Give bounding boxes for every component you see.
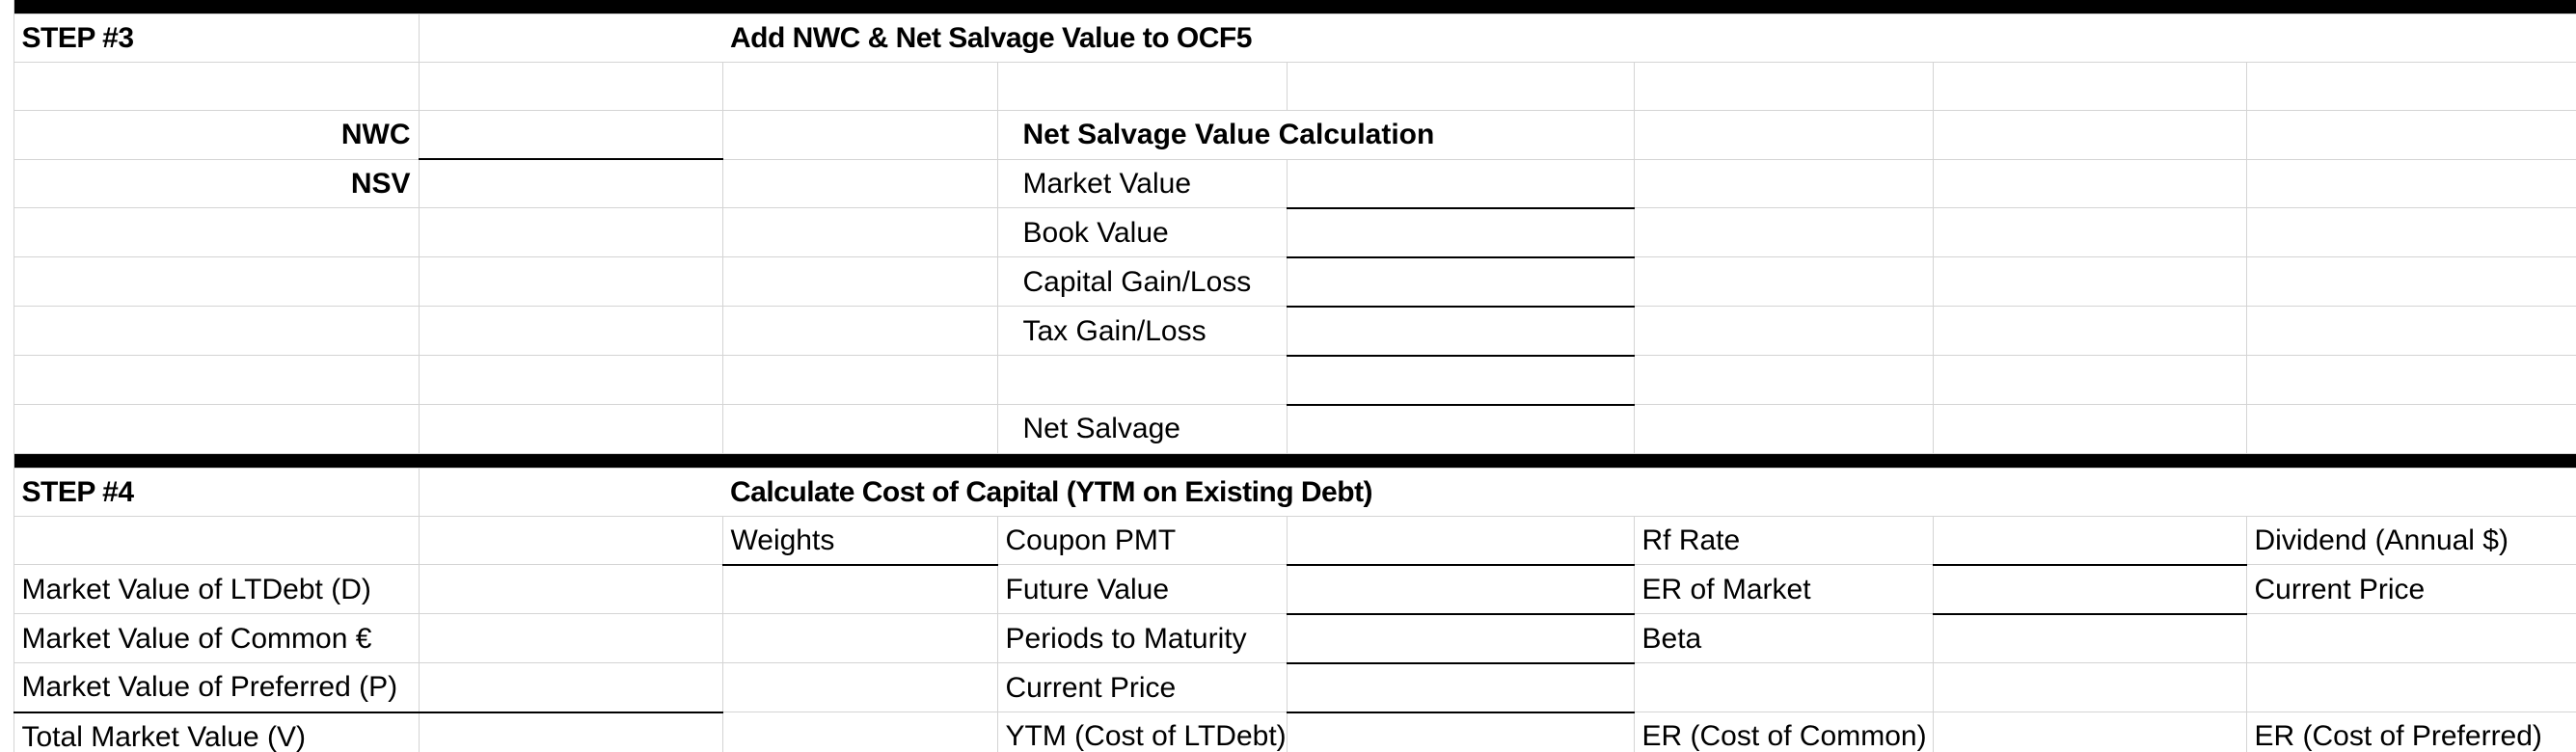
step3-heading: Add NWC & Net Salvage Value to OCF5	[722, 14, 2576, 63]
book-value-row: Book Value	[0, 208, 2576, 257]
preferred-weight[interactable]	[722, 663, 997, 712]
row-gutter	[0, 405, 14, 454]
preferred-label: Market Value of Preferred (P)	[14, 663, 419, 712]
cell-blank[interactable]	[2246, 63, 2576, 111]
net-salvage-label: Net Salvage	[997, 405, 1287, 454]
row-gutter	[0, 111, 14, 160]
tax-gain-loss-label: Tax Gain/Loss	[997, 307, 1287, 356]
cell-blank[interactable]	[2246, 159, 2576, 208]
row-gutter	[0, 356, 14, 405]
cell-blank[interactable]	[722, 307, 997, 356]
row-gutter	[0, 208, 14, 257]
divider-bar	[14, 0, 2576, 14]
common-blank-label[interactable]	[1634, 663, 1933, 712]
nwc-input[interactable]	[419, 111, 722, 160]
cell-blank[interactable]	[2246, 111, 2576, 160]
ltdebt-value[interactable]	[419, 565, 722, 614]
cell-blank[interactable]	[997, 63, 1287, 111]
cell-blank[interactable]	[14, 356, 419, 405]
ltdebt-label: Market Value of LTDebt (D)	[14, 565, 419, 614]
cell-blank[interactable]	[2246, 356, 2576, 405]
ytm-label: YTM (Cost of LTDebt)	[997, 712, 1287, 752]
capital-gain-loss-row: Capital Gain/Loss	[0, 257, 2576, 307]
cell-blank[interactable]	[419, 516, 722, 565]
cell-blank[interactable]	[14, 257, 419, 307]
coupon-pmt-input[interactable]	[1287, 516, 1634, 565]
er-preferred-label: ER (Cost of Preferred)	[2246, 712, 2576, 752]
cell-blank[interactable]	[1933, 159, 2246, 208]
cell-blank[interactable]	[722, 405, 997, 454]
periods-to-maturity-label: Periods to Maturity	[997, 614, 1287, 663]
cell-blank[interactable]	[1634, 63, 1933, 111]
ytm-input[interactable]	[1287, 712, 1634, 752]
ltdebt-weight[interactable]	[722, 565, 997, 614]
cell-blank[interactable]	[419, 356, 722, 405]
row-gutter	[0, 565, 14, 614]
nwc-label: NWC	[14, 111, 419, 160]
row-gutter	[0, 159, 14, 208]
cell-blank[interactable]	[2246, 307, 2576, 356]
cell-blank[interactable]	[722, 111, 997, 160]
cell-blank[interactable]	[1634, 159, 1933, 208]
cell-blank[interactable]	[1634, 356, 1933, 405]
cell-blank[interactable]	[1933, 307, 2246, 356]
cell-blank[interactable]	[2246, 257, 2576, 307]
cell-blank[interactable]	[1287, 63, 1634, 111]
totals-row: Total Market Value (V) YTM (Cost of LTDe…	[0, 712, 2576, 752]
cell-blank[interactable]	[1933, 257, 2246, 307]
preferred-blank-label-2[interactable]	[2246, 663, 2576, 712]
er-of-market-label: ER of Market	[1634, 565, 1933, 614]
nwc-row: NWC Net Salvage Value Calculation	[0, 111, 2576, 160]
cell-blank[interactable]	[1933, 356, 2246, 405]
cell-blank[interactable]	[14, 63, 419, 111]
cell-blank[interactable]	[1933, 405, 2246, 454]
total-market-value-value[interactable]	[419, 712, 722, 752]
cell-blank[interactable]	[419, 208, 722, 257]
row-gutter	[0, 453, 14, 468]
row-gutter	[0, 516, 14, 565]
cell-blank[interactable]	[1933, 208, 2246, 257]
row-gutter	[0, 14, 14, 63]
section-divider-middle	[0, 453, 2576, 468]
cell-blank[interactable]	[419, 405, 722, 454]
step4-header-row: STEP #4 Calculate Cost of Capital (YTM o…	[0, 468, 2576, 516]
cell-blank[interactable]	[1634, 257, 1933, 307]
cell-blank[interactable]	[722, 257, 997, 307]
nsv-label: NSV	[14, 159, 419, 208]
step3-blank-row-1	[0, 63, 2576, 111]
debt-current-price-input[interactable]	[1287, 663, 1634, 712]
cell-blank[interactable]	[1634, 111, 1933, 160]
step3-header-spacer	[419, 14, 722, 63]
ltdebt-row: Market Value of LTDebt (D) Future Value …	[0, 565, 2576, 614]
preferred-equity-row: Market Value of Preferred (P) Current Pr…	[0, 663, 2576, 712]
beta-label: Beta	[1634, 614, 1933, 663]
row-gutter	[0, 663, 14, 712]
worksheet-grid: STEP #3 Add NWC & Net Salvage Value to O…	[0, 0, 2576, 752]
cell-blank[interactable]	[2246, 208, 2576, 257]
cell-blank[interactable]	[419, 257, 722, 307]
rf-rate-input[interactable]	[1933, 516, 2246, 565]
common-weight[interactable]	[722, 614, 997, 663]
er-common-label: ER (Cost of Common)	[1634, 712, 1933, 752]
cell-blank[interactable]	[2246, 405, 2576, 454]
row-gutter	[0, 0, 14, 14]
preferred-blank-label[interactable]	[2246, 614, 2576, 663]
coupon-pmt-label: Coupon PMT	[997, 516, 1287, 565]
nsv-row: NSV Market Value	[0, 159, 2576, 208]
cell-blank[interactable]	[1933, 111, 2246, 160]
beta-input[interactable]	[1933, 614, 2246, 663]
step4-heading: Calculate Cost of Capital (YTM on Existi…	[722, 468, 2576, 516]
market-value-label: Market Value	[997, 159, 1287, 208]
cell-blank[interactable]	[14, 516, 419, 565]
cell-blank[interactable]	[722, 356, 997, 405]
capital-gain-loss-input[interactable]	[1287, 257, 1634, 307]
net-salvage-input[interactable]	[1287, 405, 1634, 454]
cell-blank[interactable]	[722, 63, 997, 111]
cell-blank[interactable]	[1634, 208, 1933, 257]
step4-label: STEP #4	[14, 468, 419, 516]
common-equity-row: Market Value of Common € Periods to Matu…	[0, 614, 2576, 663]
debt-current-price-label: Current Price	[997, 663, 1287, 712]
section-divider-top	[0, 0, 2576, 14]
future-value-input[interactable]	[1287, 565, 1634, 614]
dividend-label: Dividend (Annual $)	[2246, 516, 2576, 565]
divider-bar	[14, 453, 2576, 468]
cell-blank[interactable]	[1933, 63, 2246, 111]
nsv-spacer-input[interactable]	[1287, 356, 1634, 405]
step3-label: STEP #3	[14, 14, 419, 63]
common-blank-input[interactable]	[1933, 663, 2246, 712]
row-gutter	[0, 712, 14, 752]
rf-rate-label: Rf Rate	[1634, 516, 1933, 565]
tax-gain-loss-row: Tax Gain/Loss	[0, 307, 2576, 356]
step4-header-spacer	[419, 468, 722, 516]
cell-blank[interactable]	[722, 208, 997, 257]
tax-gain-loss-input[interactable]	[1287, 307, 1634, 356]
row-gutter	[0, 468, 14, 516]
periods-to-maturity-input[interactable]	[1287, 614, 1634, 663]
capital-gain-loss-label: Capital Gain/Loss	[997, 257, 1287, 307]
spreadsheet-canvas: STEP #3 Add NWC & Net Salvage Value to O…	[0, 0, 2576, 752]
net-salvage-row: Net Salvage	[0, 405, 2576, 454]
cell-blank[interactable]	[14, 208, 419, 257]
book-value-label: Book Value	[997, 208, 1287, 257]
nsv-spacer-row	[0, 356, 2576, 405]
cell-blank[interactable]	[14, 307, 419, 356]
cell-blank[interactable]	[419, 63, 722, 111]
nsv-spacer-label	[997, 356, 1287, 405]
cell-blank[interactable]	[14, 405, 419, 454]
nsv-input[interactable]	[419, 159, 722, 208]
row-gutter	[0, 307, 14, 356]
total-market-value-label: Total Market Value (V)	[14, 712, 419, 752]
future-value-label: Future Value	[997, 565, 1287, 614]
er-common-input[interactable]	[1933, 712, 2246, 752]
preferred-value[interactable]	[419, 663, 722, 712]
cell-blank[interactable]	[1634, 307, 1933, 356]
step3-header-row: STEP #3 Add NWC & Net Salvage Value to O…	[0, 14, 2576, 63]
cell-blank[interactable]	[419, 307, 722, 356]
total-market-value-weight[interactable]	[722, 712, 997, 752]
preferred-current-price-label: Current Price	[2246, 565, 2576, 614]
common-label: Market Value of Common €	[14, 614, 419, 663]
weights-header: Weights	[722, 516, 997, 565]
cell-blank[interactable]	[1634, 405, 1933, 454]
book-value-input[interactable]	[1287, 208, 1634, 257]
er-of-market-input[interactable]	[1933, 565, 2246, 614]
row-gutter	[0, 257, 14, 307]
market-value-input[interactable]	[1287, 159, 1634, 208]
row-gutter	[0, 614, 14, 663]
row-gutter	[0, 63, 14, 111]
step4-subheader-row: Weights Coupon PMT Rf Rate Dividend (Ann…	[0, 516, 2576, 565]
common-value[interactable]	[419, 614, 722, 663]
cell-blank[interactable]	[722, 159, 997, 208]
nsv-block-title: Net Salvage Value Calculation	[997, 111, 1634, 160]
